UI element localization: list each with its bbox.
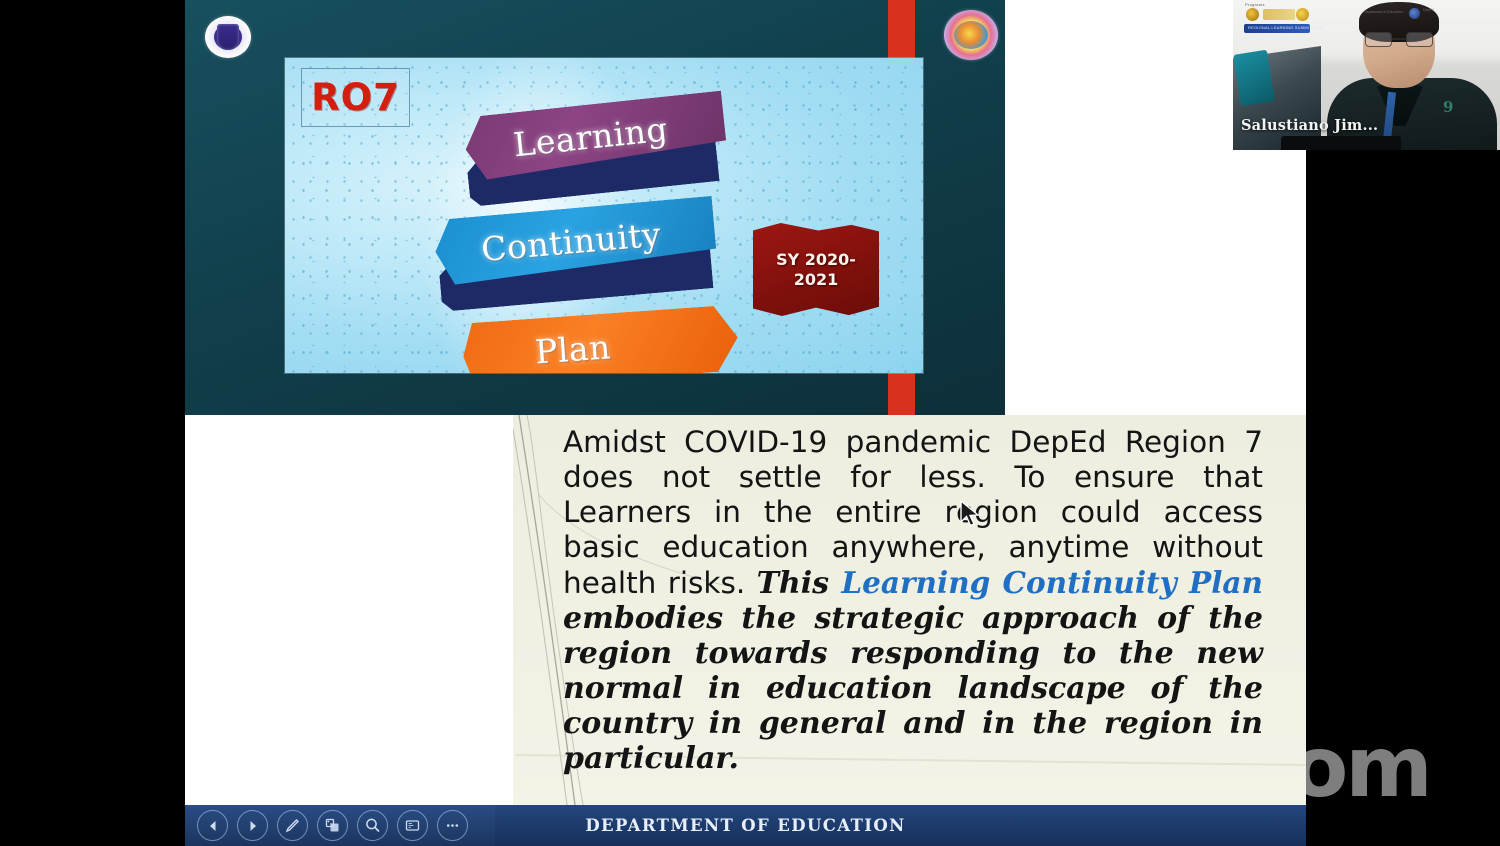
university-seal-icon xyxy=(205,16,251,58)
previous-slide-button[interactable] xyxy=(197,810,228,841)
school-year-line-2: 2021 xyxy=(794,270,839,290)
region-badge-label: RO7 xyxy=(311,76,400,119)
paragraph-emphasis-tail: embodies the strategic approach of the r… xyxy=(563,601,1263,776)
laptop-edge xyxy=(1281,136,1401,150)
participant-video-tile[interactable]: 9 Programs REGIONAL LEARNING SUMMIT 2020… xyxy=(1233,0,1500,150)
deped-seal-icon xyxy=(944,10,998,60)
slide-artwork-panel: RO7 Learning Continuity Plan SY 2020- 20… xyxy=(285,58,923,373)
participant-name-label: Salustiano Jim... xyxy=(1241,117,1378,134)
more-options-button[interactable] xyxy=(437,810,468,841)
annotate-pen-button[interactable] xyxy=(277,810,308,841)
school-year-line-1: SY 2020- xyxy=(776,250,856,270)
banner-plan-label: Plan xyxy=(534,327,612,371)
participant-shirt-logo: 9 xyxy=(1443,98,1459,116)
zoom-watermark: zoom xyxy=(1306,718,1500,813)
overlay-band xyxy=(1263,9,1295,20)
overlay-right-label-2: DepEd xyxy=(1423,8,1434,12)
overlay-logo-left-icon xyxy=(1246,8,1259,21)
screen-select-button[interactable] xyxy=(397,810,428,841)
overlay-program-label: Programs xyxy=(1245,2,1265,7)
overlay-logo-right-icon xyxy=(1296,8,1309,21)
slide-paragraph: Amidst COVID-19 pandemic DepEd Region 7 … xyxy=(563,425,1263,776)
slide-header-band: RO7 Learning Continuity Plan SY 2020- 20… xyxy=(185,0,1005,415)
participant-name-plate: Salustiano Jim... xyxy=(1233,114,1386,136)
school-year-flag: SY 2020- 2021 xyxy=(753,223,879,316)
region-badge: RO7 xyxy=(301,68,410,127)
stamp-button[interactable] xyxy=(317,810,348,841)
zoom-meeting-window: RO7 Learning Continuity Plan SY 2020- 20… xyxy=(0,0,1500,846)
shared-screen-presentation[interactable]: RO7 Learning Continuity Plan SY 2020- 20… xyxy=(185,0,1306,846)
overlay-banner-text: REGIONAL LEARNING SUMMIT 2020 xyxy=(1248,25,1323,30)
next-slide-button[interactable] xyxy=(237,810,268,841)
overlay-right-logo-icon xyxy=(1409,8,1420,19)
paragraph-emphasis-lead: This xyxy=(757,566,842,601)
spotlight-button[interactable] xyxy=(357,810,388,841)
paragraph-accent-phrase: Learning Continuity Plan xyxy=(841,565,1263,600)
video-overlay-graphic: Programs REGIONAL LEARNING SUMMIT 2020 D… xyxy=(1233,0,1500,44)
annotation-toolbar[interactable] xyxy=(185,805,495,846)
slide-text-panel: Amidst COVID-19 pandemic DepEd Region 7 … xyxy=(513,415,1306,805)
overlay-right-label-1: Department of Education xyxy=(1364,10,1403,14)
